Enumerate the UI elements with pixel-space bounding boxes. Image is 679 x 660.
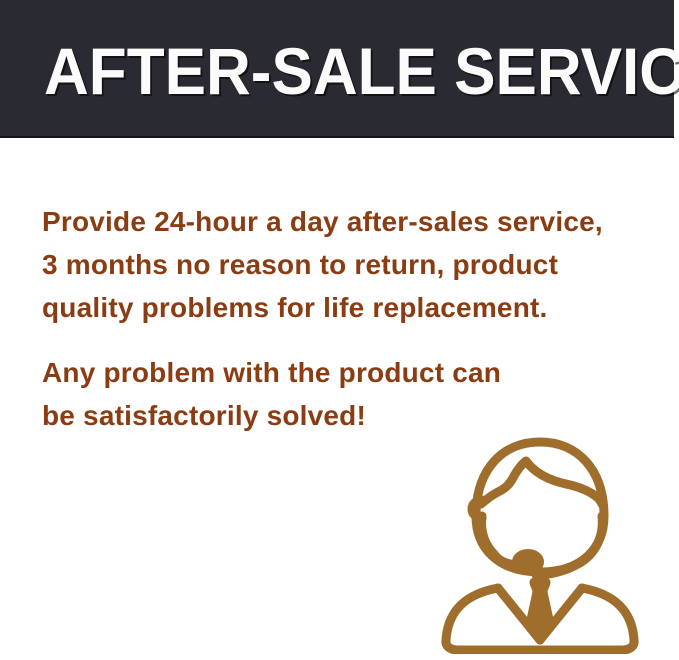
page-title: AFTER-SALE SERVICE bbox=[44, 36, 612, 106]
necktie-shape bbox=[528, 579, 552, 640]
agent-icon-artwork bbox=[436, 412, 652, 654]
headset-right-arm-path bbox=[536, 516, 602, 575]
customer-service-agent-icon bbox=[436, 412, 652, 654]
header-band: AFTER-SALE SERVICE bbox=[0, 0, 674, 138]
mic-capsule-shape bbox=[515, 552, 541, 572]
body-copy: Provide 24-hour a day after-sales servic… bbox=[42, 200, 662, 437]
after-sale-service-banner: AFTER-SALE SERVICE Provide 24-hour a day… bbox=[0, 0, 679, 660]
hair-fringe-path bbox=[481, 461, 602, 504]
service-terms-paragraph: Provide 24-hour a day after-sales servic… bbox=[42, 200, 662, 329]
